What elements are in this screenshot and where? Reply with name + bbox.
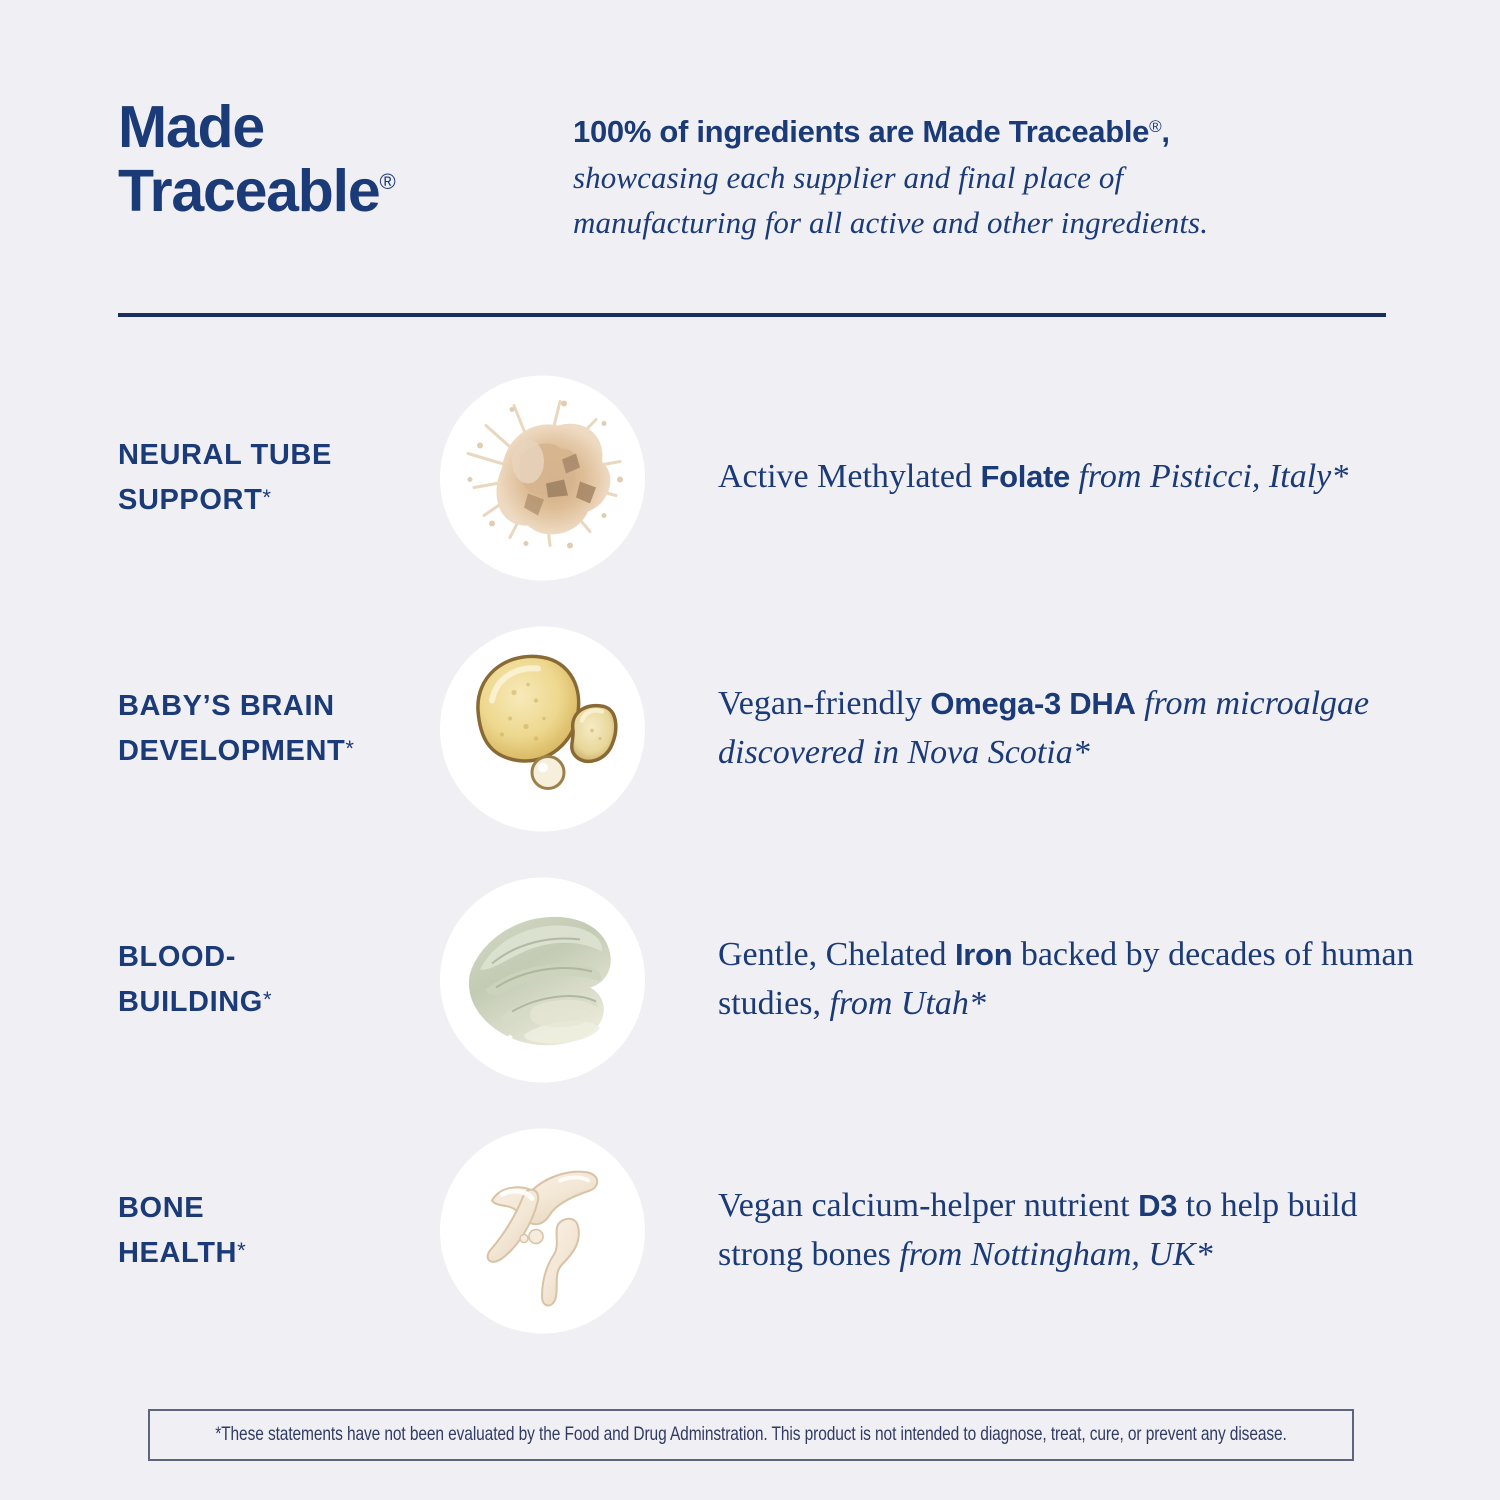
benefit-label: BLOOD- BUILDING* [118,935,438,1023]
ingredient-description: Vegan calcium-helper nutrient D3 to help… [718,1182,1418,1279]
list-item: BONE HEALTH* [0,1105,1500,1356]
desc-part-roman: Vegan-friendly [718,685,930,722]
list-item: NEURAL TUBE SUPPORT* [0,352,1500,603]
vitamin-d3-cream-image [440,1128,645,1333]
asterisk-icon: * [237,1238,246,1263]
desc-part-roman: Vegan calcium-helper nutrient [718,1187,1138,1224]
disclaimer-box: *These statements have not been evaluate… [148,1409,1354,1461]
ingredient-list: NEURAL TUBE SUPPORT* [0,352,1500,1356]
desc-part-bold: Folate [980,459,1070,494]
intro-block: 100% of ingredients are Made Traceable®,… [573,96,1388,245]
benefit-label-text: BONE HEALTH [118,1192,237,1268]
page-title: Made Traceable® [118,96,573,223]
desc-part-roman: Gentle, Chelated [718,936,955,973]
iron-paste-image [440,877,645,1082]
desc-part-bold: Omega-3 DHA [930,686,1135,721]
desc-part-italic: from Utah* [829,985,985,1022]
intro-subline-1: showcasing each supplier and final place… [573,155,1388,200]
ingredient-description: Active Methylated Folate from Pisticci, … [718,453,1418,502]
omega-3-oil-image [440,626,645,831]
disclaimer-text: *These statements have not been evaluate… [215,1424,1287,1447]
desc-part-bold: Iron [955,937,1012,972]
benefit-label: NEURAL TUBE SUPPORT* [118,433,438,521]
desc-part-bold: D3 [1138,1188,1177,1223]
benefit-label-text: BABY’S BRAIN DEVELOPMENT [118,690,345,766]
made-traceable-infographic: Made Traceable® 100% of ingredients are … [0,0,1500,1500]
desc-part-italic: from Pisticci, Italy* [1070,458,1348,495]
intro-headline-tail: , [1161,114,1169,149]
intro-subline-2: manufacturing for all active and other i… [573,200,1388,245]
registered-trademark-icon: ® [379,169,395,194]
asterisk-icon: * [345,736,354,761]
benefit-label: BONE HEALTH* [118,1186,438,1274]
desc-part-italic: from Nottingham, UK* [899,1236,1212,1273]
brand-title-text: Made Traceable [118,94,379,224]
ingredient-description: Gentle, Chelated Iron backed by decades … [718,931,1418,1028]
benefit-label-text: BLOOD- BUILDING [118,941,263,1017]
intro-headline: 100% of ingredients are Made Traceable®, [573,110,1388,155]
asterisk-icon: * [262,485,271,510]
folate-powder-image [440,375,645,580]
header-divider [118,313,1386,317]
registered-trademark-icon: ® [1149,117,1161,136]
benefit-label: BABY’S BRAIN DEVELOPMENT* [118,684,438,772]
asterisk-icon: * [263,987,272,1012]
benefit-label-text: NEURAL TUBE SUPPORT [118,439,332,515]
intro-headline-text: 100% of ingredients are Made Traceable [573,114,1149,149]
header: Made Traceable® 100% of ingredients are … [118,96,1388,245]
list-item: BLOOD- BUILDING* [0,854,1500,1105]
ingredient-description: Vegan-friendly Omega-3 DHA from microalg… [718,680,1418,777]
desc-part-roman: Active Methylated [718,458,980,495]
list-item: BABY’S BRAIN DEVELOPMENT* [0,603,1500,854]
